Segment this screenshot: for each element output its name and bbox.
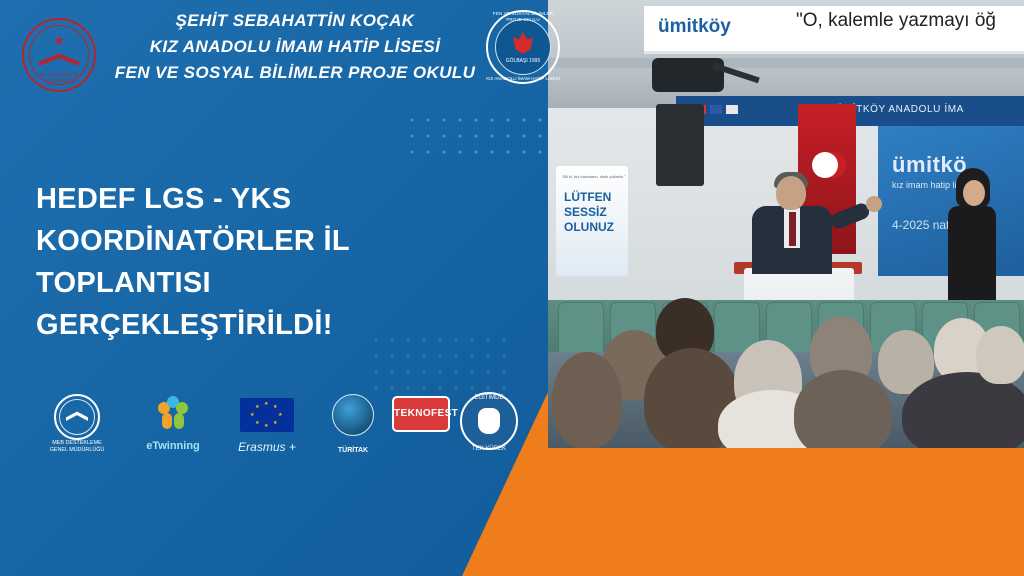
eu-star: ★ bbox=[255, 421, 259, 425]
meb-logo-inner-ring bbox=[59, 399, 95, 435]
eu-star: ★ bbox=[273, 421, 277, 425]
etwinning-figures-icon bbox=[158, 396, 188, 432]
standee-line-2: SESSİZ bbox=[564, 205, 607, 220]
loudspeaker bbox=[656, 104, 704, 186]
eu-star: ★ bbox=[264, 424, 268, 428]
turitak-caption: TÜRİTAK bbox=[322, 447, 384, 454]
audience-head bbox=[976, 326, 1024, 384]
standee-line-1: LÜTFEN bbox=[564, 190, 611, 205]
eu-star: ★ bbox=[273, 405, 277, 409]
standee-sub: "Bil ki, biz insanların, dinle yükselir.… bbox=[562, 174, 625, 179]
erasmus-plus-logo: ★ ★ ★ ★ ★ ★ ★ ★ Erasmus + bbox=[224, 392, 310, 456]
photo-wall-quote: "O, kalemle yazmayı öğ bbox=[796, 10, 996, 32]
flag-crescent bbox=[812, 152, 838, 178]
turitak-globe-icon bbox=[332, 394, 374, 436]
photo-wall-banner: ümitköy "O, kalemle yazmayı öğ bbox=[644, 6, 1024, 54]
eu-star: ★ bbox=[264, 402, 268, 406]
conference-photo: ümitköy "O, kalemle yazmayı öğ ÜMİTKÖY A… bbox=[548, 0, 1024, 448]
tek-yurek-caption-top: EĞİTİMDE bbox=[460, 395, 518, 401]
poster-canvas: ümitköy "O, kalemle yazmayı öğ ÜMİTKÖY A… bbox=[0, 0, 1024, 576]
sign-language-hand-icon bbox=[478, 408, 500, 434]
badge-year-text: GÖLBAŞI 1995 bbox=[486, 58, 560, 64]
audience-body bbox=[794, 370, 892, 448]
teknofest-logo: TEKNOFEST bbox=[388, 392, 454, 456]
speaker-head bbox=[776, 176, 806, 210]
speaker-tie bbox=[789, 212, 796, 246]
teknofest-caption: TEKNOFEST bbox=[394, 398, 448, 430]
poster-header: ★ T.C. MİLLÎ EĞİTİM BAKANLIĞI ŞEHİT SEBA… bbox=[0, 0, 560, 104]
school-badge: FEN VE SOSYAL BİLİMLER PROJE OKULU GÖLBA… bbox=[482, 6, 564, 94]
silence-standee: "Bil ki, biz insanların, dinle yükselir.… bbox=[556, 166, 628, 276]
etwinning-body-2 bbox=[174, 413, 184, 429]
etwinning-logo: eTwinning bbox=[136, 392, 210, 456]
attendee-face bbox=[963, 180, 985, 206]
eu-star: ★ bbox=[278, 413, 282, 417]
headline-line-3: TOPLANTISI bbox=[36, 262, 476, 304]
speaker-hand bbox=[866, 196, 882, 212]
eu-star: ★ bbox=[255, 405, 259, 409]
stage-light bbox=[652, 58, 724, 92]
flag-chip-2 bbox=[710, 105, 722, 114]
dot-pattern-top bbox=[404, 112, 554, 160]
emblem-caption: T.C. MİLLÎ EĞİTİM BAKANLIĞI bbox=[28, 72, 90, 83]
school-title-line-3: FEN VE SOSYAL BİLİMLER PROJE OKULU bbox=[110, 60, 480, 86]
flag-chip-3 bbox=[726, 105, 738, 114]
teknofest-badge: TEKNOFEST bbox=[392, 396, 450, 432]
school-title-line-2: KIZ ANADOLU İMAM HATİP LİSESİ bbox=[110, 34, 480, 60]
etwinning-body-1 bbox=[162, 413, 172, 429]
photo-ceiling-beam bbox=[548, 58, 1024, 68]
photo-content: ümitköy "O, kalemle yazmayı öğ ÜMİTKÖY A… bbox=[548, 0, 1024, 448]
partner-logo-strip: MEB DESTEKLEME GENEL MÜDÜRLÜĞÜ eTwinning… bbox=[40, 392, 490, 464]
egitimde-tek-yurek-logo: EĞİTİMDE TEK YÜREK bbox=[454, 392, 524, 456]
eu-star: ★ bbox=[250, 413, 254, 417]
eu-flag-icon: ★ ★ ★ ★ ★ ★ ★ ★ bbox=[240, 398, 294, 432]
photo-banner-logo-text: ümitköy bbox=[658, 16, 731, 38]
turitak-logo: TÜRİTAK bbox=[322, 392, 384, 456]
headline: HEDEF LGS - YKS KOORDİNATÖRLER İL TOPLAN… bbox=[36, 178, 476, 346]
headline-line-4: GERÇEKLEŞTİRİLDİ! bbox=[36, 304, 476, 346]
school-title-line-1: ŞEHİT SEBAHATTİN KOÇAK bbox=[110, 8, 480, 34]
etwinning-caption: eTwinning bbox=[136, 440, 210, 452]
headline-line-1: HEDEF LGS - YKS bbox=[36, 178, 476, 220]
badge-arc-bottom-text: KIZ ANADOLU İMAM HATİP LİSESİ bbox=[486, 76, 560, 82]
school-title: ŞEHİT SEBAHATTİN KOÇAK KIZ ANADOLU İMAM … bbox=[110, 8, 480, 86]
audience-head bbox=[552, 352, 622, 448]
erasmus-caption: Erasmus + bbox=[224, 440, 310, 454]
ministry-of-education-emblem: ★ T.C. MİLLÎ EĞİTİM BAKANLIĞI bbox=[22, 18, 96, 92]
standee-line-3: OLUNUZ bbox=[564, 220, 614, 235]
badge-arc-top-text: FEN VE SOSYAL BİLİMLER PROJE OKULU bbox=[486, 11, 560, 23]
meb-logo-caption: MEB DESTEKLEME GENEL MÜDÜRLÜĞÜ bbox=[46, 440, 108, 454]
meb-logo: MEB DESTEKLEME GENEL MÜDÜRLÜĞÜ bbox=[46, 392, 108, 456]
tek-yurek-caption-bottom: TEK YÜREK bbox=[460, 446, 518, 452]
headline-line-2: KOORDİNATÖRLER İL bbox=[36, 220, 476, 262]
emblem-star-icon: ★ bbox=[52, 34, 66, 48]
